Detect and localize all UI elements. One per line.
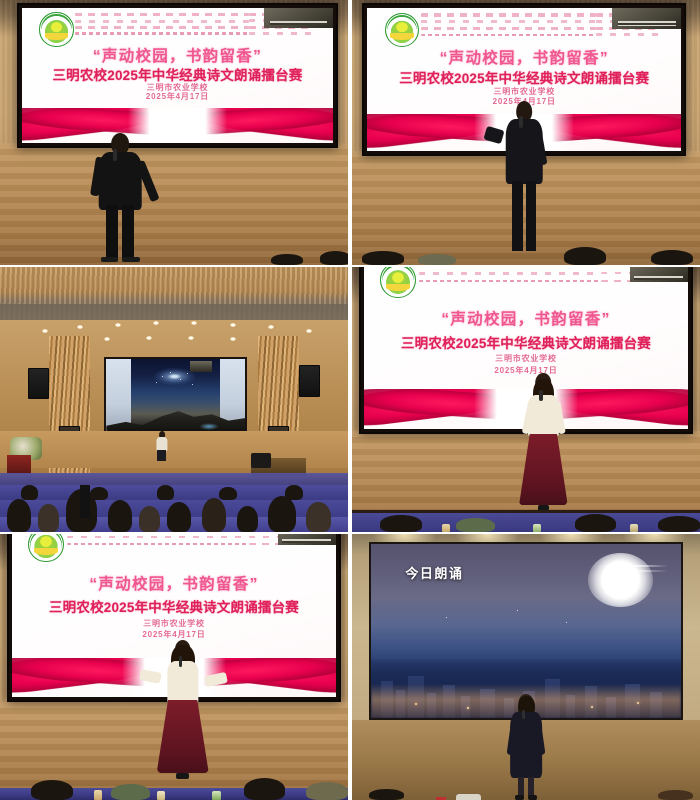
slide-organization: 三明市农业学校 [364, 353, 688, 364]
panel-middle-right: “声动校园，书韵留香” 三明农校2025年中华经典诗文朗诵擂台赛 三明市农业学校… [352, 267, 700, 532]
camera-tripod [80, 485, 90, 518]
microphone-icon [113, 149, 117, 161]
banner-header-text [421, 13, 597, 36]
panel-bottom-right: 今日朗诵 [352, 534, 700, 800]
stage-floor [0, 143, 348, 265]
screen-corner-window [630, 267, 688, 282]
banner-slide: “声动校园，书韵留香” 三明农校2025年中华经典诗文朗诵擂台赛 三明市农业学校… [22, 8, 332, 144]
audience-foreground [352, 244, 700, 265]
slide-date: 2025年4月17日 [22, 91, 332, 102]
slide-date: 2025年4月17日 [12, 629, 336, 640]
slide-organization: 三明市农业学校 [12, 618, 336, 629]
stage-led-screen [104, 357, 247, 437]
performer-figure [90, 133, 149, 263]
slide-title: “声动校园，书韵留香” [364, 307, 688, 329]
wall-speaker-right [299, 365, 320, 397]
panel-top-left: “声动校园，书韵留香” 三明农校2025年中华经典诗文朗诵擂台赛 三明市农业学校… [0, 0, 348, 265]
screen-corner-window [264, 8, 332, 28]
school-emblem-icon [28, 534, 64, 562]
panel-bottom-left: “声动校园，书韵留香” 三明农校2025年中华经典诗文朗诵擂台赛 三明市农业学校… [0, 534, 348, 800]
screen-corner-window [278, 534, 336, 545]
banner-header-text [67, 534, 248, 545]
slide-title: “声动校园，书韵留香” [367, 46, 681, 68]
audience-foreground [0, 771, 348, 800]
slide-subtitle: 三明农校2025年中华经典诗文朗诵擂台赛 [364, 332, 688, 352]
audience-seating [0, 463, 348, 532]
school-emblem-icon [380, 267, 416, 298]
slide-subtitle: 三明农校2025年中华经典诗文朗诵擂台赛 [12, 596, 336, 616]
microphone-icon [522, 710, 525, 720]
performer-figure [498, 101, 550, 255]
slide-title: “声动校园，书韵留香” [12, 572, 336, 594]
performer-figure [505, 694, 547, 800]
banner-header-text [419, 267, 600, 282]
moon-graphic [588, 553, 653, 607]
slide-title: “声动校园，书韵留香” [22, 44, 332, 66]
microphone-icon [179, 656, 183, 667]
school-emblem-icon [39, 12, 73, 46]
school-emblem-icon [385, 13, 419, 47]
audience-foreground [352, 787, 700, 800]
performer-figure [155, 431, 169, 465]
wall-speaker-left [28, 368, 49, 400]
red-ribbon-decoration [22, 108, 332, 143]
audience-foreground [0, 249, 348, 265]
performer-figure [519, 373, 568, 511]
photo-collage: “声动校园，书韵留香” 三明农校2025年中华经典诗文朗诵擂台赛 三明市农业学校… [0, 0, 700, 800]
panel-top-right: “声动校园，书韵留香” 三明农校2025年中华经典诗文朗诵擂台赛 三明市农业学校… [352, 0, 700, 265]
performer-figure [157, 640, 209, 778]
screen-corner-window [612, 8, 681, 30]
microphone-icon [539, 390, 542, 401]
audience-foreground [352, 500, 700, 532]
slide-title-today-recitation: 今日朗诵 [405, 563, 463, 582]
panel-middle-left [0, 267, 348, 532]
slide-subtitle: 三明农校2025年中华经典诗文朗诵擂台赛 [367, 67, 681, 87]
ceiling-band [0, 304, 348, 320]
microphone-icon [519, 116, 523, 128]
banner-header-text [75, 13, 249, 35]
led-screen: “声动校园，书韵留香” 三明农校2025年中华经典诗文朗诵擂台赛 三明市农业学校… [17, 3, 337, 149]
